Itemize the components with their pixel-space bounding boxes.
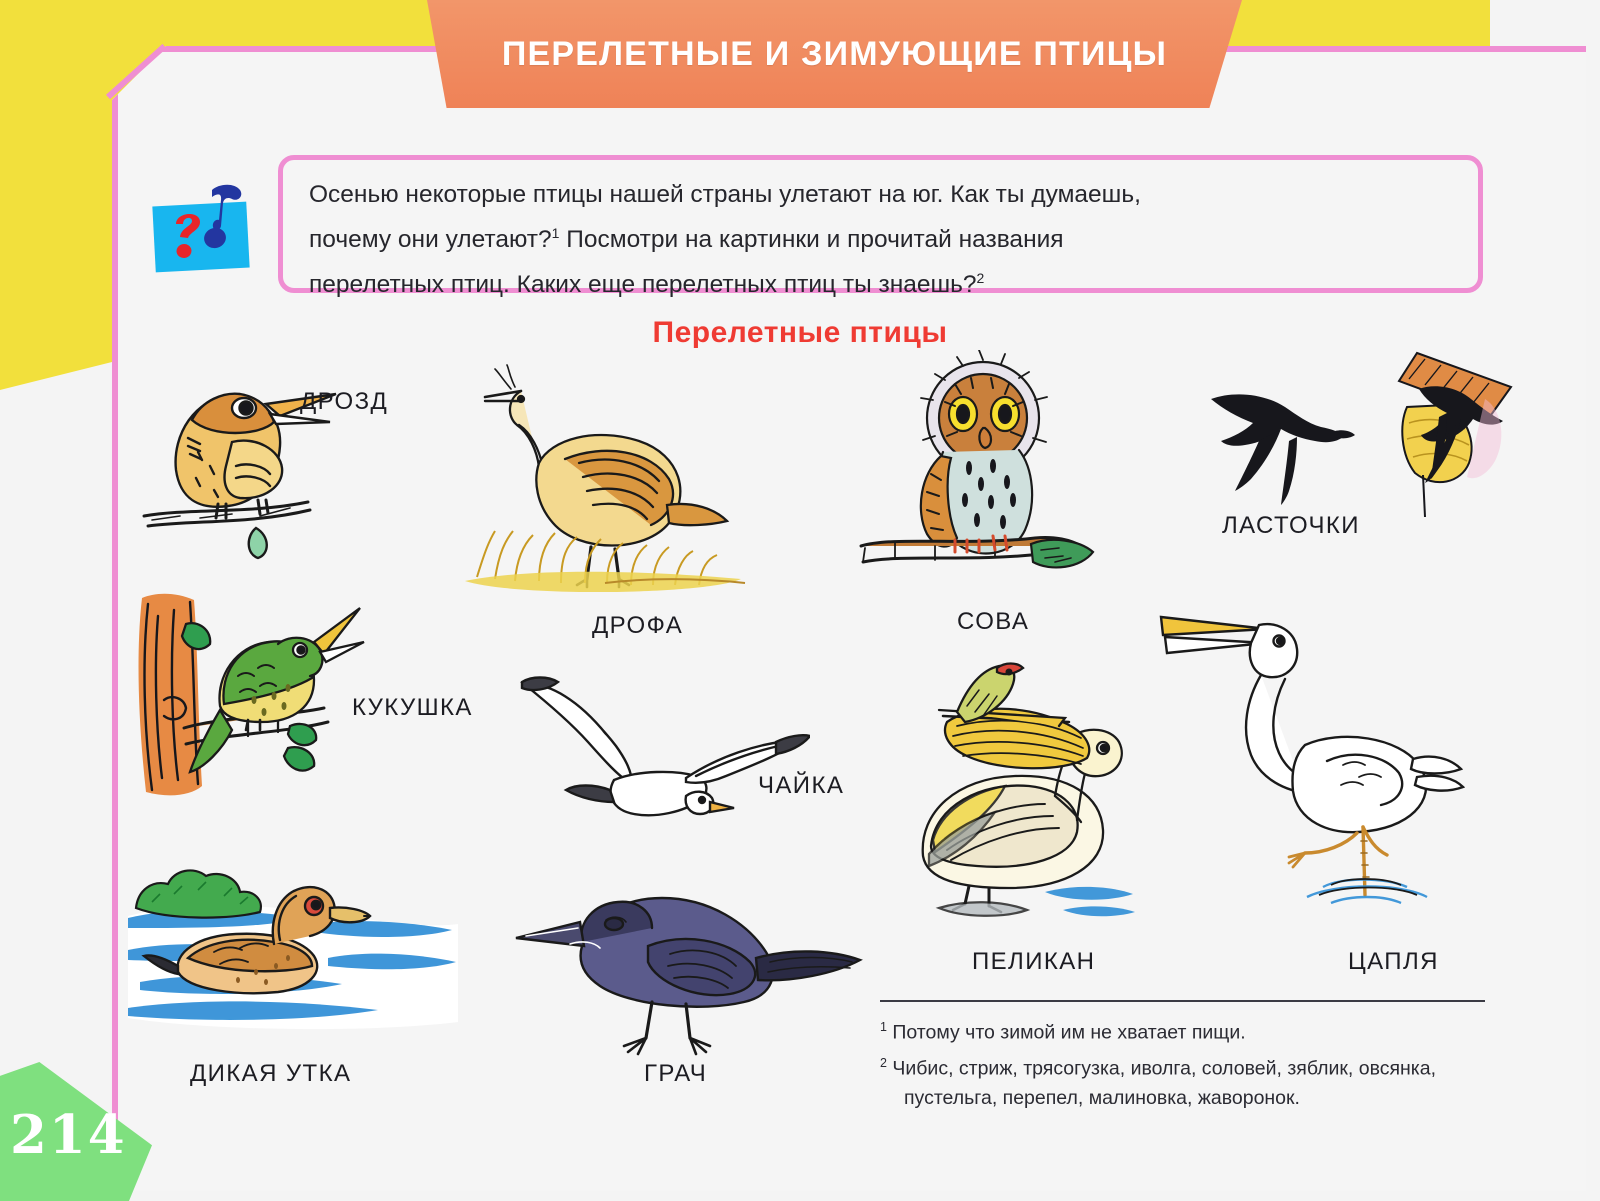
bird-label-drozd: ДРОЗД [300, 388, 388, 416]
bird-label-sova: СОВА [957, 608, 1029, 636]
bird-label-kukushka: КУКУШКА [352, 694, 473, 722]
bird-illustration-sova [855, 350, 1125, 600]
instruction-box: Осенью некоторые птицы нашей страны улет… [278, 155, 1483, 293]
question-music-icon [152, 178, 262, 284]
instruction-line-2b: Посмотри на картинки и прочитай названия [559, 226, 1063, 253]
bird-illustration-grach [510, 870, 880, 1060]
bird-illustration-drozd [140, 350, 350, 560]
bird-label-pelikan: ПЕЛИКАН [972, 948, 1095, 976]
footnotes: 1 Потому что зимой им не хватает пищи. 2… [880, 1012, 1500, 1113]
bird-illustration-drofa [455, 355, 775, 600]
bird-illustration-chayka [510, 672, 810, 832]
footnote-2-marker: 2 [880, 1056, 887, 1070]
footnote-1-marker: 1 [880, 1020, 887, 1034]
bird-label-tsaplya: ЦАПЛЯ [1348, 948, 1439, 976]
bird-label-chayka: ЧАЙКА [758, 772, 844, 800]
footnote-2: 2 Чибис, стриж, трясогузка, иволга, соло… [880, 1048, 1500, 1114]
bird-label-lastochki: ЛАСТОЧКИ [1222, 512, 1360, 540]
bird-illustration-dikaya-utka [128, 832, 458, 1042]
bird-label-grach: ГРАЧ [644, 1060, 707, 1088]
bird-label-dikaya-utka: ДИКАЯ УТКА [190, 1060, 351, 1088]
footnote-2-text: Чибис, стриж, трясогузка, иволга, солове… [892, 1057, 1436, 1109]
footnote-ref-2: 2 [977, 270, 985, 286]
textbook-page: ПЕРЕЛЕТНЫЕ И ЗИМУЮЩИЕ ПТИЦЫ Осенью некот… [0, 0, 1600, 1201]
card-corner-bevel [112, 46, 182, 116]
bird-label-drofa: ДРОФА [592, 612, 683, 640]
bird-illustration-tsaplya [1155, 595, 1465, 915]
title-banner: ПЕРЕЛЕТНЫЕ И ЗИМУЮЩИЕ ПТИЦЫ [427, 0, 1242, 108]
instruction-text: Осенью некоторые птицы нашей страны улет… [309, 176, 1452, 304]
instruction-line-2a: почему они улетают? [309, 226, 552, 253]
section-heading: Перелетные птицы [600, 316, 1000, 350]
page-title: ПЕРЕЛЕТНЫЕ И ЗИМУЮЩИЕ ПТИЦЫ [502, 35, 1167, 74]
footnote-divider [880, 1000, 1485, 1002]
footnote-1-text: Потому что зимой им не хватает пищи. [892, 1022, 1245, 1044]
footnote-1: 1 Потому что зимой им не хватает пищи. [880, 1012, 1500, 1048]
page-number: 214 [10, 1104, 127, 1166]
instruction-line-1: Осенью некоторые птицы нашей страны улет… [309, 181, 1141, 208]
instruction-line-3a: перелетных птиц. Каких еще перелетных пт… [309, 271, 977, 298]
